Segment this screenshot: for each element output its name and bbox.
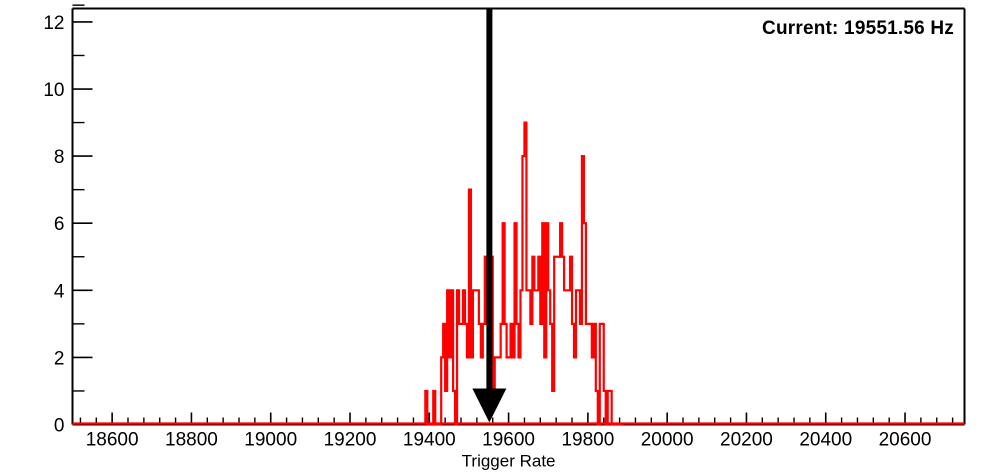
y-tick-label: 6 (54, 214, 65, 235)
y-tick-label: 2 (54, 348, 65, 369)
x-tick-label: 19000 (244, 430, 297, 451)
y-axis-ticks (73, 5, 93, 424)
current-rate-readout: Current: 19551.56 Hz (762, 18, 954, 40)
histogram-outline (425, 123, 623, 425)
marker-arrowhead (472, 389, 506, 423)
current-value-marker (472, 9, 506, 423)
trigger-rate-histogram: 1860018800190001920019400196001980020000… (0, 0, 996, 472)
y-tick-label: 12 (43, 13, 64, 34)
x-axis-tick-labels: 1860018800190001920019400196001980020000… (86, 430, 932, 451)
x-tick-label: 20600 (879, 430, 932, 451)
x-tick-label: 19800 (561, 430, 614, 451)
x-tick-label: 18600 (86, 430, 139, 451)
y-axis-tick-labels: 024681012 (43, 13, 65, 437)
plot-frame (73, 9, 965, 425)
x-tick-label: 18800 (165, 430, 218, 451)
y-tick-label: 4 (54, 281, 65, 302)
x-tick-label: 19400 (403, 430, 456, 451)
x-tick-label: 20000 (641, 430, 694, 451)
y-tick-label: 8 (54, 147, 65, 168)
x-tick-label: 20400 (799, 430, 852, 451)
x-tick-label: 19200 (324, 430, 377, 451)
histogram-series (73, 123, 965, 425)
y-tick-label: 10 (43, 80, 64, 101)
histogram-canvas: 1860018800190001920019400196001980020000… (0, 0, 996, 472)
x-tick-label: 19600 (482, 430, 535, 451)
x-axis-title: Trigger Rate (462, 452, 556, 471)
x-tick-label: 20200 (720, 430, 773, 451)
y-tick-label: 0 (54, 416, 65, 437)
